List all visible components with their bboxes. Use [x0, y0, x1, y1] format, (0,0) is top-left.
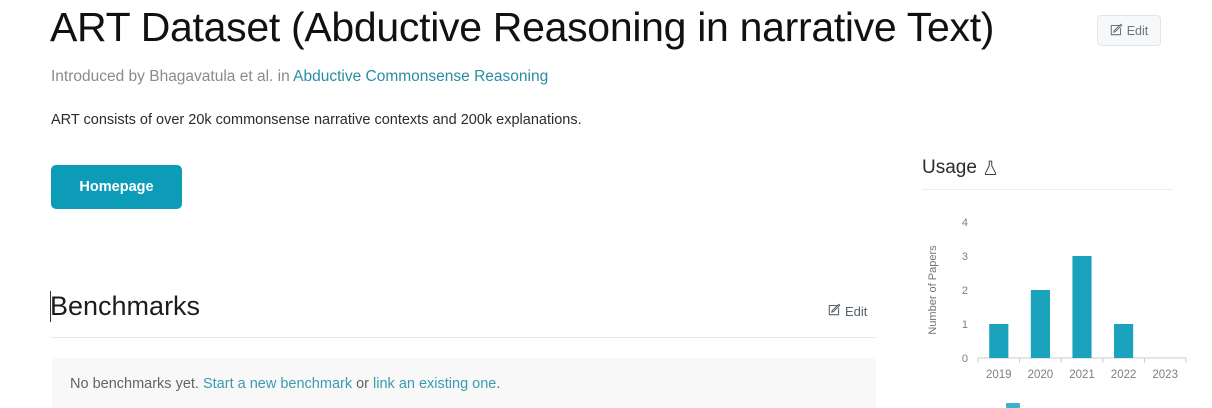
- start-new-benchmark-link[interactable]: Start a new benchmark: [203, 376, 352, 392]
- y-axis-tick-label: 4: [962, 217, 968, 229]
- y-axis-title: Number of Papers: [927, 245, 939, 335]
- y-axis-tick-label: 3: [962, 251, 968, 263]
- x-axis-tick-label: 2019: [986, 369, 1012, 381]
- x-axis-tick-label: 2023: [1152, 369, 1178, 381]
- sidebar-column: Usage 01234Number of Papers2019202020212…: [900, 0, 1212, 408]
- benchmarks-empty-panel: No benchmarks yet. Start a new benchmark…: [52, 358, 876, 408]
- introduced-by-line: Introduced by Bhagavatula et al. in Abdu…: [51, 66, 548, 88]
- y-axis-tick-label: 1: [962, 319, 968, 331]
- edit-benchmarks-label: Edit: [845, 304, 867, 319]
- benchmarks-empty-middle: or: [352, 376, 373, 392]
- benchmarks-heading: Benchmarks: [50, 288, 200, 324]
- link-existing-benchmark-link[interactable]: link an existing one: [373, 376, 496, 392]
- edit-pencil-square-icon: [828, 303, 841, 319]
- benchmarks-empty-message: No benchmarks yet. Start a new benchmark…: [70, 373, 500, 395]
- edit-benchmarks-button[interactable]: Edit: [828, 301, 867, 321]
- usage-heading: Usage: [922, 155, 998, 181]
- dataset-page: ART Dataset (Abductive Reasoning in narr…: [0, 0, 1212, 408]
- chart-bar[interactable]: [1114, 324, 1133, 358]
- x-axis-tick-label: 2022: [1111, 369, 1137, 381]
- chart-bar[interactable]: [1072, 256, 1091, 358]
- chart-bar[interactable]: [989, 324, 1008, 358]
- flask-icon: [983, 160, 998, 176]
- dataset-description: ART consists of over 20k commonsense nar…: [51, 109, 582, 131]
- page-title: ART Dataset (Abductive Reasoning in narr…: [50, 2, 994, 52]
- y-axis-tick-label: 2: [962, 285, 968, 297]
- usage-heading-label: Usage: [922, 155, 977, 181]
- introduced-by-prefix: Introduced by Bhagavatula et al. in: [51, 68, 293, 85]
- homepage-button[interactable]: Homepage: [51, 165, 182, 209]
- chart-bar[interactable]: [1031, 290, 1050, 358]
- usage-divider: [922, 189, 1173, 190]
- benchmarks-divider: [51, 337, 876, 338]
- y-axis-tick-label: 0: [962, 353, 968, 365]
- paper-link[interactable]: Abductive Commonsense Reasoning: [293, 68, 548, 85]
- benchmarks-empty-suffix: .: [496, 376, 500, 392]
- chart-legend-marker: [1006, 403, 1020, 408]
- benchmarks-empty-prefix: No benchmarks yet.: [70, 376, 203, 392]
- x-axis-tick-label: 2021: [1069, 369, 1095, 381]
- main-content-column: ART Dataset (Abductive Reasoning in narr…: [0, 0, 900, 408]
- x-axis-tick-label: 2020: [1028, 369, 1054, 381]
- usage-bar-chart[interactable]: 01234Number of Papers2019202020212022202…: [922, 200, 1202, 400]
